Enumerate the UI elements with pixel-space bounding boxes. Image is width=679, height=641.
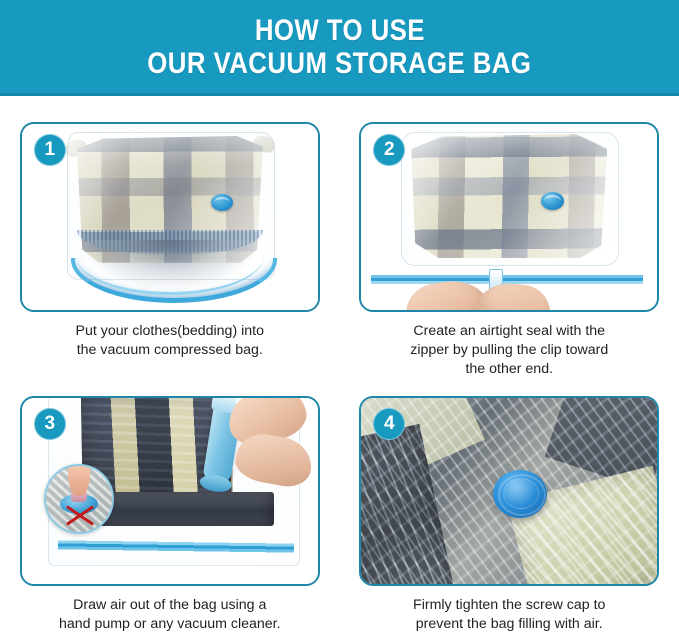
compressed-bag-closeup [361,398,657,584]
step-number-badge-3: 3 [34,408,66,440]
step-2-caption: Create an airtight seal with the zipper … [363,322,655,380]
step-2-caption-line-1: Create an airtight seal with the [363,322,655,341]
step-2-illustration [361,124,657,310]
step-number-badge-1: 1 [34,134,66,166]
step-2-image-panel: 2 [359,122,659,312]
step-number-badge-4: 4 [373,408,405,440]
do-not-press-valve-inset [44,464,114,534]
step-4-caption-line-1: Firmly tighten the screw cap to [363,596,655,615]
header-banner: HOW TO USE OUR VACUUM STORAGE BAG [0,0,679,96]
vacuum-bag-sealing-icon [393,132,625,270]
zipper-seal-icon [58,538,294,555]
step-4-image-panel: 4 [359,396,659,586]
step-3-caption-line-1: Draw air out of the bag using a [24,596,316,615]
step-3-caption-line-2: hand pump or any vacuum cleaner. [24,615,316,634]
step-4-illustration [361,398,657,584]
finger-icon [68,464,90,496]
step-1-image-panel: 1 [20,122,320,312]
step-4-caption: Firmly tighten the screw cap to prevent … [363,596,655,634]
air-valve-icon [541,192,564,210]
step-3-illustration [22,398,318,584]
step-card-3: 3 [0,384,340,641]
step-2-caption-line-2: zipper by pulling the clip toward [363,341,655,360]
step-2-caption-line-3: the other end. [363,360,655,379]
steps-grid: 1 [0,96,679,641]
step-1-illustration [22,124,318,310]
step-card-2: 2 Create an [340,96,679,384]
step-1-caption-line-2: the vacuum compressed bag. [24,341,316,360]
red-cross-icon [64,504,94,526]
step-4-caption-line-2: prevent the bag filling with air. [363,615,655,634]
plaid-pattern [411,134,607,258]
step-1-caption-line-1: Put your clothes(bedding) into [24,322,316,341]
header-title-line-2: OUR VACUUM STORAGE BAG [147,49,531,80]
header-title-line-1: HOW TO USE [254,16,424,47]
step-number-badge-2: 2 [373,134,405,166]
bag-contents-plaid-bedding [411,134,607,258]
step-card-1: 1 [0,96,340,384]
screw-cap-icon [493,470,547,518]
step-1-caption: Put your clothes(bedding) into the vacuu… [24,322,316,360]
vacuum-bag-filled-icon [63,132,277,300]
step-card-4: 4 Firmly tighten the screw cap to [340,384,679,641]
how-to-use-infographic: HOW TO USE OUR VACUUM STORAGE BAG 1 [0,0,679,641]
step-3-image-panel: 3 [20,396,320,586]
step-3-caption: Draw air out of the bag using a hand pum… [24,596,316,634]
air-valve-icon [211,194,233,211]
